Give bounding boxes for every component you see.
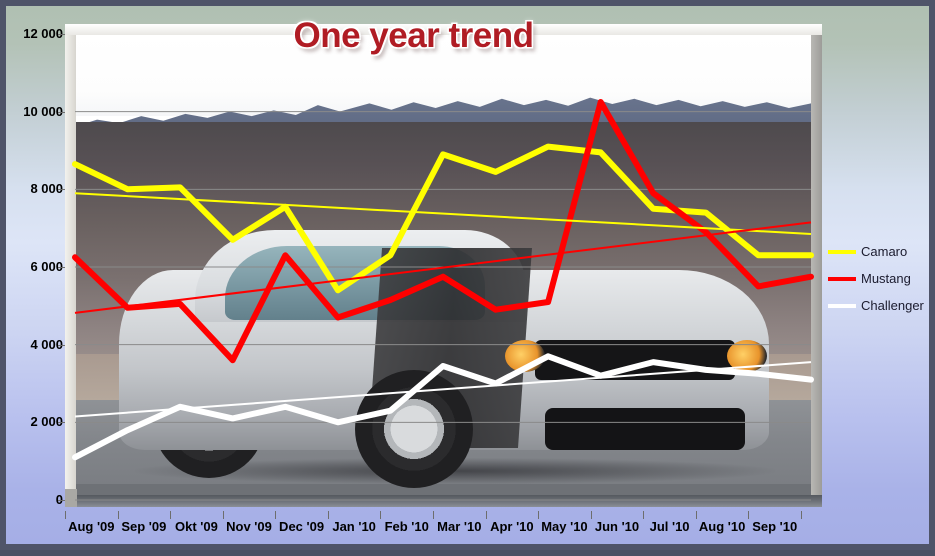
x-axis-tick-mark (801, 511, 802, 519)
y-axis-tick-mark (58, 422, 65, 423)
trendline-mustang (75, 222, 811, 312)
x-axis-tick-label: Dec '09 (279, 519, 324, 534)
x-axis-tick-mark (486, 511, 487, 519)
x-axis-tick-mark (380, 511, 381, 519)
x-axis-tick-label: May '10 (541, 519, 587, 534)
x-axis-tick-mark (65, 511, 66, 519)
y-axis-tick-label: 2 000 (7, 414, 63, 429)
legend-item-mustang[interactable]: Mustang (828, 265, 935, 292)
x-axis-tick-label: Okt '09 (175, 519, 218, 534)
chart-legend: CamaroMustangChallenger (828, 238, 935, 319)
x-axis-tick-label: Mar '10 (437, 519, 481, 534)
y-axis-tick-label: 8 000 (7, 181, 63, 196)
y-axis-tick-label: 0 (7, 492, 63, 507)
x-axis-tick-label: Jan '10 (332, 519, 376, 534)
x-axis-tick-mark (275, 511, 276, 519)
x-axis-tick-mark (170, 511, 171, 519)
x-axis-tick-mark (538, 511, 539, 519)
x-axis-tick-label: Sep '10 (752, 519, 797, 534)
y-axis-tick-label: 6 000 (7, 259, 63, 274)
x-axis-tick-mark (643, 511, 644, 519)
x-axis-tick-label: Feb '10 (385, 519, 429, 534)
x-axis-tick-label: Jul '10 (650, 519, 690, 534)
legend-item-label: Camaro (861, 244, 907, 259)
y-axis-tick-mark (58, 112, 65, 113)
y-axis-tick-label: 4 000 (7, 337, 63, 352)
legend-color-swatch (828, 250, 856, 254)
chart-title: One year trend (6, 16, 821, 56)
legend-color-swatch (828, 304, 856, 308)
legend-item-challenger[interactable]: Challenger (828, 292, 935, 319)
x-axis-tick-label: Aug '09 (68, 519, 114, 534)
series-overlay (6, 6, 935, 556)
series-line-mustang (75, 102, 811, 360)
series-line-challenger (75, 356, 811, 457)
x-axis-tick-mark (223, 511, 224, 519)
x-axis-tick-mark (328, 511, 329, 519)
y-axis-tick-mark (58, 189, 65, 190)
x-axis-tick-mark (591, 511, 592, 519)
legend-item-label: Challenger (861, 298, 924, 313)
legend-item-camaro[interactable]: Camaro (828, 238, 935, 265)
chart-frame: One year trend 02 0004 0006 0008 00010 0… (0, 0, 935, 550)
y-axis-tick-label: 10 000 (7, 104, 63, 119)
x-axis-tick-mark (748, 511, 749, 519)
legend-item-label: Mustang (861, 271, 911, 286)
y-axis: 02 0004 0006 0008 00010 00012 000 (6, 6, 63, 556)
series-line-camaro (75, 147, 811, 291)
y-axis-tick-mark (58, 345, 65, 346)
x-axis-tick-label: Aug '10 (699, 519, 745, 534)
y-axis-tick-mark (58, 267, 65, 268)
x-axis-tick-mark (118, 511, 119, 519)
x-axis-tick-label: Jun '10 (595, 519, 639, 534)
trendline-challenger (75, 362, 811, 416)
x-axis-tick-label: Nov '09 (226, 519, 272, 534)
y-axis-tick-mark (58, 500, 65, 501)
x-axis-tick-mark (696, 511, 697, 519)
x-axis-tick-mark (433, 511, 434, 519)
x-axis: Aug '09Sep '09Okt '09Nov '09Dec '09Jan '… (65, 511, 822, 537)
x-axis-tick-label: Sep '09 (121, 519, 166, 534)
legend-color-swatch (828, 277, 856, 281)
x-axis-tick-label: Apr '10 (490, 519, 534, 534)
